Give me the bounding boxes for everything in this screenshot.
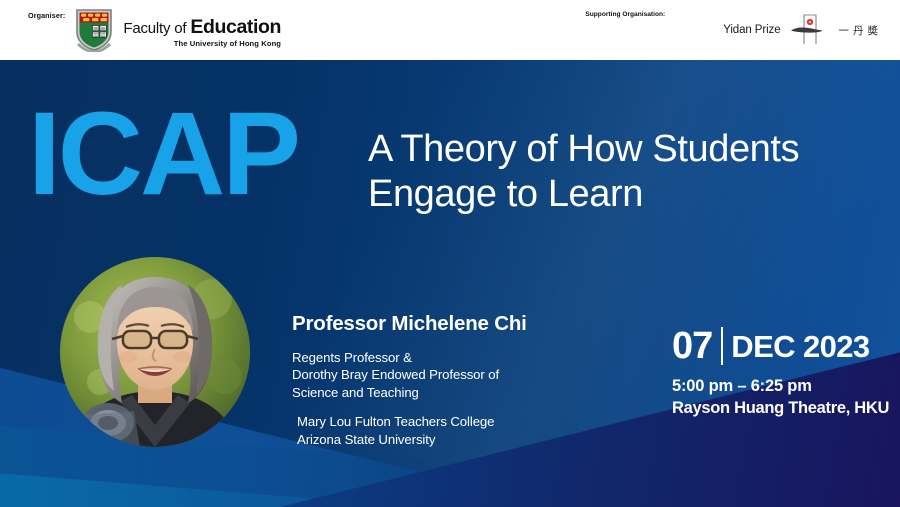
date-divider <box>721 327 723 365</box>
event-month-year: DEC 2023 <box>731 331 869 362</box>
event-time: 5:00 pm – 6:25 pm <box>672 377 889 396</box>
yidan-prize-name: Yidan Prize <box>723 24 780 36</box>
event-details: 07 DEC 2023 5:00 pm – 6:25 pm Rayson Hua… <box>672 327 889 418</box>
poster-header: Organiser: <box>0 0 900 60</box>
speaker-role-line-2: Dorothy Bray Endowed Professor of <box>292 366 527 383</box>
hku-crest-icon <box>75 8 113 52</box>
faculty-name: Education <box>190 16 281 39</box>
speaker-portrait <box>60 257 250 447</box>
faculty-prefix: Faculty of <box>123 20 186 37</box>
speaker-name: Professor Michelene Chi <box>292 312 527 336</box>
event-poster: Organiser: <box>0 0 900 507</box>
poster-body: ICAP A Theory of How Students Engage to … <box>0 60 900 507</box>
page-title: ICAP <box>28 98 298 211</box>
faculty-logo: Faculty of Education The University of H… <box>123 16 281 48</box>
organiser-label: Organiser: <box>28 11 65 20</box>
organiser-block: Organiser: <box>28 7 281 52</box>
event-day: 07 <box>672 327 712 365</box>
speaker-role-line-1: Regents Professor & <box>292 349 527 366</box>
faculty-university: The University of Hong Kong <box>123 39 281 48</box>
yidan-prize-chinese: 一丹奬 <box>839 23 883 38</box>
speaker-affiliation-line-1: Mary Lou Fulton Teachers College <box>297 413 527 430</box>
speaker-role: Regents Professor & Dorothy Bray Endowed… <box>292 349 527 401</box>
page-subtitle: A Theory of How Students Engage to Learn <box>368 127 799 217</box>
yidan-prize-logo: Yidan Prize 一丹奬 <box>723 14 882 46</box>
subtitle-line-1: A Theory of How Students <box>368 127 799 172</box>
speaker-affiliation: Mary Lou Fulton Teachers College Arizona… <box>297 413 527 448</box>
subtitle-line-2: Engage to Learn <box>368 172 799 217</box>
supporting-label: Supporting Organisation: <box>585 11 665 18</box>
speaker-affiliation-line-2: Arizona State University <box>297 431 527 448</box>
speaker-info: Professor Michelene Chi Regents Professo… <box>292 312 527 448</box>
yidan-brush-mark-icon <box>789 14 829 46</box>
event-venue: Rayson Huang Theatre, HKU <box>672 399 889 418</box>
event-date: 07 DEC 2023 <box>672 327 889 365</box>
speaker-role-line-3: Science and Teaching <box>292 384 527 401</box>
supporting-organisation-block: Supporting Organisation: Yidan Prize 一丹奬 <box>585 8 882 46</box>
